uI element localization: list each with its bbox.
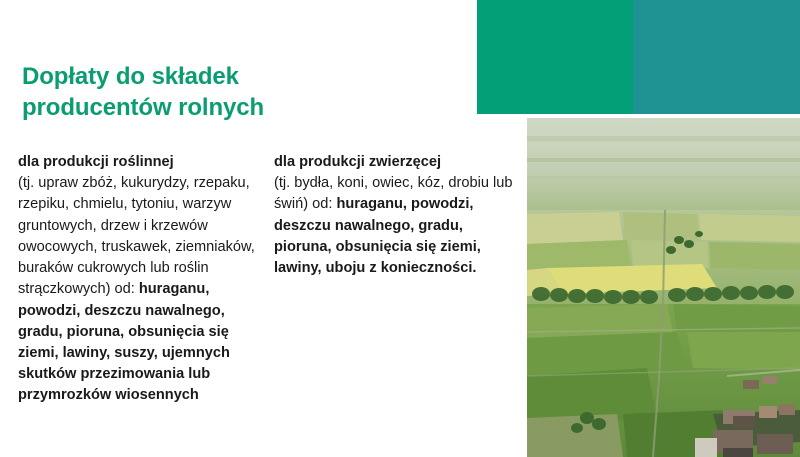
plant-production-bold-text: huraganu, powodzi, deszczu nawalnego, gr… (18, 281, 230, 403)
animal-production-heading: dla produkcji zwierzęcej (274, 152, 518, 173)
content-columns: dla produkcji roślinnej(tj. upraw zbóż, … (18, 152, 518, 407)
page-title-line-2: producentów rolnych (22, 94, 264, 121)
decorative-band-teal (633, 0, 800, 114)
animal-production-paragraph: dla produkcji zwierzęcej(tj. bydła, koni… (274, 152, 518, 279)
plant-production-normal-text: (tj. upraw zbóż, kukurydzy, rzepaku, rze… (18, 175, 255, 297)
plant-production-heading: dla produkcji roślinnej (18, 152, 268, 173)
page-title: Dopłaty do składek producentów rolnych (22, 62, 322, 123)
aerial-farmland-photo (527, 118, 800, 457)
column-plant-production: dla produkcji roślinnej(tj. upraw zbóż, … (18, 152, 274, 407)
plant-production-paragraph: dla produkcji roślinnej(tj. upraw zbóż, … (18, 152, 268, 407)
decorative-band-green (477, 0, 633, 114)
page-title-line-1: Dopłaty do składek (22, 63, 239, 90)
column-animal-production: dla produkcji zwierzęcej(tj. bydła, koni… (274, 152, 518, 279)
aerial-farmland-illustration (527, 118, 800, 457)
slide-root: Dopłaty do składek producentów rolnych d… (0, 0, 800, 457)
